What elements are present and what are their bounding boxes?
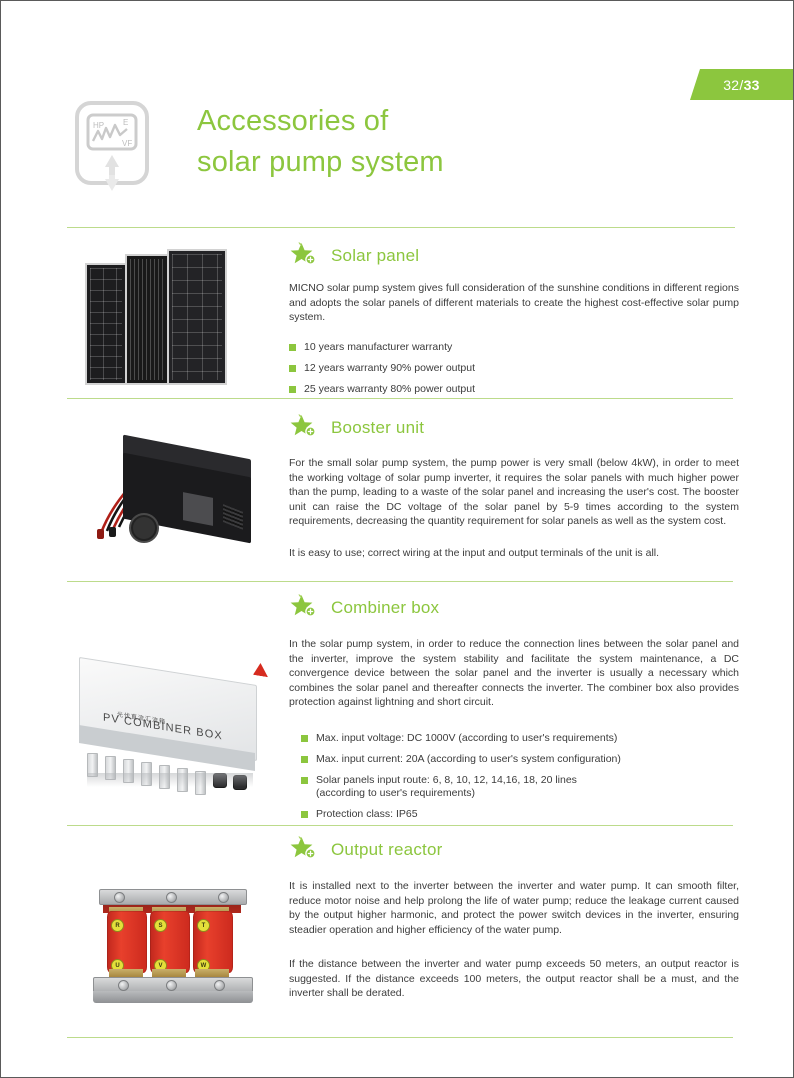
page-total: 33: [744, 77, 760, 93]
reactor-bolt: [218, 892, 229, 903]
section-paragraph: For the small solar pump system, the pum…: [289, 456, 739, 529]
reactor-bolt: [166, 980, 177, 991]
section-paragraph: MICNO solar pump system gives full consi…: [289, 281, 739, 325]
solar-panel-product-image: [81, 245, 229, 385]
list-item: Protection class: IP65: [301, 808, 739, 821]
divider-after-booster: [67, 581, 733, 582]
document-page: 32/33 HP E VF Accessories of solar pump …: [0, 0, 794, 1078]
section-paragraph: It is installed next to the inverter bet…: [289, 879, 739, 937]
booster-unit-product-image: [71, 441, 271, 579]
reactor-mounting-foot: [93, 991, 253, 1003]
section-paragraph: It is easy to use; correct wiring at the…: [289, 546, 739, 561]
list-item: 25 years warranty 80% power output: [289, 383, 739, 396]
svg-text:E: E: [123, 118, 128, 127]
reactor-terminal-plate: [152, 969, 186, 977]
combiner-box-content: Combiner box In the solar pump system, i…: [289, 593, 739, 829]
section-title: Solar panel: [331, 246, 419, 266]
page-title-line2: solar pump system: [197, 142, 444, 183]
reactor-terminal-s: S: [154, 919, 167, 932]
list-item: Max. input current: 20A (according to us…: [301, 753, 739, 766]
reactor-bolt: [166, 892, 177, 903]
section-heading: Solar panel: [289, 241, 739, 271]
star-plus-icon: [289, 241, 319, 271]
section-paragraph: If the distance between the inverter and…: [289, 957, 739, 1001]
inverter-display-icon: HP E VF: [75, 101, 157, 193]
section-heading: Combiner box: [289, 593, 739, 623]
svg-text:HP: HP: [93, 121, 104, 130]
booster-label-plate: [183, 492, 213, 526]
solar-panel-unit: [125, 254, 169, 385]
section-title: Combiner box: [331, 598, 439, 618]
reactor-terminal-t: T: [197, 919, 210, 932]
section-title: Booster unit: [331, 418, 424, 438]
combiner-box-spec-list: Max. input voltage: DC 1000V (according …: [301, 732, 739, 821]
section-heading: Output reactor: [289, 835, 739, 865]
section-booster-unit: Booster unit For the small solar pump sy…: [67, 413, 735, 573]
page-header: HP E VF Accessories of solar pump system: [67, 97, 733, 207]
list-item-main: Solar panels input route: 6, 8, 10, 12, …: [316, 774, 577, 786]
section-title: Output reactor: [331, 840, 442, 860]
reactor-terminal-plate: [109, 969, 143, 977]
page-current: 32: [723, 77, 739, 93]
warning-triangle-icon: [253, 662, 268, 677]
list-item-continuation: (according to user's requirements): [316, 787, 739, 800]
page-title-line1: Accessories of: [197, 105, 388, 137]
page-number-badge: 32/33: [690, 69, 793, 100]
reactor-bracket-top: [99, 889, 247, 905]
reactor-terminal-r: R: [111, 919, 124, 932]
booster-vent: [223, 504, 243, 530]
divider-top: [67, 227, 735, 228]
svg-text:VF: VF: [122, 139, 132, 148]
list-item: Max. input voltage: DC 1000V (according …: [301, 732, 739, 745]
section-output-reactor: R S T U V W: [67, 835, 735, 1035]
reactor-bolt: [114, 892, 125, 903]
combiner-box-product-image: 光伏直流汇流箱 PV COMBINER BOX: [65, 655, 280, 795]
product-reflection: [87, 773, 253, 787]
solar-panel-bullet-list: 10 years manufacturer warranty 12 years …: [289, 341, 739, 396]
solar-panel-unit: [85, 263, 127, 385]
list-item: Solar panels input route: 6, 8, 10, 12, …: [301, 774, 739, 800]
solar-panel-content: Solar panel MICNO solar pump system give…: [289, 241, 739, 404]
reactor-terminal-plate: [195, 969, 229, 977]
divider-bottom: [67, 1037, 733, 1038]
reactor-bolt: [214, 980, 225, 991]
solar-panel-unit: [167, 249, 227, 385]
booster-unit-content: Booster unit For the small solar pump sy…: [289, 413, 739, 560]
section-solar-panel: Solar panel MICNO solar pump system give…: [67, 241, 735, 391]
page-title: Accessories of solar pump system: [197, 101, 444, 183]
section-heading: Booster unit: [289, 413, 739, 443]
star-plus-icon: [289, 835, 319, 865]
list-item: 12 years warranty 90% power output: [289, 362, 739, 375]
reactor-bolt: [118, 980, 129, 991]
list-item: 10 years manufacturer warranty: [289, 341, 739, 354]
star-plus-icon: [289, 593, 319, 623]
output-reactor-product-image: R S T U V W: [85, 877, 265, 1017]
output-reactor-content: Output reactor It is installed next to t…: [289, 835, 739, 1001]
star-plus-icon: [289, 413, 319, 443]
booster-fan-grille: [129, 513, 159, 543]
section-paragraph: In the solar pump system, in order to re…: [289, 637, 739, 710]
section-combiner-box: 光伏直流汇流箱 PV COMBINER BOX: [67, 593, 735, 813]
